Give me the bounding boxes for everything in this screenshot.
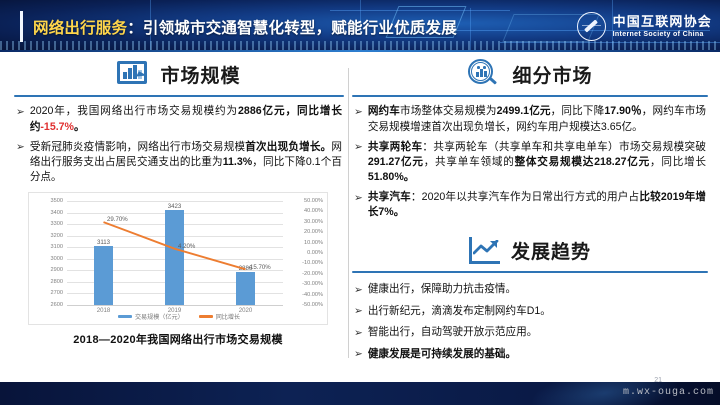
y-tick-right: 30.00% — [289, 219, 323, 225]
y-tick-left: 3000 — [29, 256, 63, 262]
org-logo: 中国互联网协会 Internet Society of China — [577, 9, 712, 43]
section-title-trend: 发展趋势 — [511, 237, 591, 264]
y-tick-left: 2600 — [29, 302, 63, 308]
bullet-arrow-icon: ➢ — [354, 104, 363, 119]
section-title-segment: 细分市场 — [512, 61, 592, 88]
bullet-arrow-icon: ➢ — [354, 140, 363, 155]
org-name-cn: 中国互联网协会 — [613, 15, 712, 28]
y-tick-right: -40.00% — [289, 292, 323, 298]
y-tick-right: 40.00% — [289, 208, 323, 214]
y-tick-left: 3300 — [29, 221, 63, 227]
y-tick-right: -30.00% — [289, 281, 323, 287]
slide-header: 网络出行服务 ：引领城市交通智慧化转型，赋能行业优质发展 中国互联网协会 Int… — [0, 0, 720, 52]
line-label-2018: 29.70% — [107, 216, 128, 223]
slide: 网络出行服务 ：引领城市交通智慧化转型，赋能行业优质发展 中国互联网协会 Int… — [0, 0, 720, 405]
line-label-2020: -15.70% — [248, 264, 271, 271]
bullet-arrow-icon: ➢ — [354, 325, 363, 340]
bullet-item: ➢ 健康出行，保障助力抗击疫情。 — [354, 282, 706, 297]
bullet-arrow-icon: ➢ — [16, 104, 25, 119]
line-label-2019: 4.20% — [178, 243, 195, 250]
monitor-bar-chart-cursor-icon — [117, 61, 151, 88]
slide-body: 市场规模 ➢ 2020年，我国网络出行市场交易规模约为2886亿元，同比增长约-… — [0, 52, 720, 382]
legend-label: 同比增长 — [216, 312, 240, 321]
section-title-market: 市场规模 — [160, 61, 240, 88]
bullet-text: 智能出行，自动驾驶开放示范应用。 — [368, 325, 538, 340]
bullet-text: 共享汽车：2020年以共享汽车作为日常出行方式的用户占比较2019年增长7%。 — [368, 190, 706, 220]
org-logo-text: 中国互联网协会 Internet Society of China — [613, 15, 712, 38]
y-tick-right: 0.00% — [289, 250, 323, 256]
bullet-item: ➢ 出行新纪元，滴滴发布定制网约车D1。 — [354, 304, 706, 319]
y-tick-left: 3400 — [29, 210, 63, 216]
org-name-en: Internet Society of China — [613, 31, 712, 38]
legend-item-bar: 交易规模（亿元） — [118, 312, 184, 321]
y-tick-left: 3100 — [29, 244, 63, 250]
bullet-item: ➢ 共享两轮车：共享两轮车（共享单车和共享电单车）市场交易规模突破291.27亿… — [354, 140, 706, 185]
section-header-market: 市场规模 — [14, 54, 344, 94]
bullet-item: ➢ 共享汽车：2020年以共享汽车作为日常出行方式的用户占比较2019年增长7%… — [354, 190, 706, 220]
title-accent-bar — [20, 11, 23, 42]
y-tick-left: 2700 — [29, 290, 63, 296]
page-title-highlight: 网络出行服务 — [33, 16, 127, 38]
bullet-text: 健康出行，保障助力抗击疫情。 — [368, 282, 516, 297]
y-tick-left: 3200 — [29, 233, 63, 239]
slide-footer — [0, 382, 720, 405]
legend-swatch — [118, 315, 132, 318]
section-header-trend: 发展趋势 — [352, 230, 708, 270]
bullet-arrow-icon: ➢ — [354, 282, 363, 297]
page-title: 网络出行服务 ：引领城市交通智慧化转型，赋能行业优质发展 — [33, 12, 457, 41]
y-tick-left: 3500 — [29, 198, 63, 204]
line-chart-up-icon — [469, 237, 502, 264]
y-tick-right: -20.00% — [289, 271, 323, 277]
bullet-text: 健康发展是可持续发展的基础。 — [368, 347, 516, 362]
legend-label: 交易规模（亿元） — [135, 312, 184, 321]
watermark: m.wx-ouga.com — [623, 387, 714, 398]
magnifier-bar-chart-icon — [467, 59, 503, 89]
bullet-item: ➢ 2020年，我国网络出行市场交易规模约为2886亿元，同比增长约-15.7%… — [16, 104, 342, 134]
chart-legend: 交易规模（亿元） 同比增长 — [29, 312, 329, 321]
y-tick-right: -50.00% — [289, 302, 323, 308]
bullet-arrow-icon: ➢ — [354, 304, 363, 319]
y-tick-left: 2800 — [29, 279, 63, 285]
bullet-arrow-icon: ➢ — [16, 140, 25, 155]
bullet-text: 出行新纪元，滴滴发布定制网约车D1。 — [368, 304, 551, 319]
legend-swatch — [199, 315, 213, 318]
column-divider — [348, 68, 349, 358]
bullet-item: ➢ 网约车市场整体交易规模为2499.1亿元，同比下降17.90％，网约车市场交… — [354, 104, 706, 134]
section-header-segment: 细分市场 — [352, 54, 708, 94]
y-tick-right: 20.00% — [289, 229, 323, 235]
y-tick-right: 50.00% — [289, 198, 323, 204]
growth-line-series — [67, 201, 283, 305]
globe-icon — [577, 12, 606, 41]
bullet-text: 网约车市场整体交易规模为2499.1亿元，同比下降17.90％，网约车市场交易规… — [368, 104, 706, 134]
column-right: 细分市场 ➢ 网约车市场整体交易规模为2499.1亿元，同比下降17.90％，网… — [352, 54, 708, 362]
bullet-text: 受新冠肺炎疫情影响，网络出行市场交易规模首次出现负增长。网络出行服务支出占居民交… — [30, 140, 342, 185]
page-title-rest: ：引领城市交通智慧化转型，赋能行业优质发展 — [127, 16, 457, 38]
bullet-arrow-icon: ➢ — [354, 190, 363, 205]
chart-plot-area: 3500 3400 3300 3200 3100 3000 2900 2800 … — [67, 201, 283, 305]
chart-caption: 2018—2020年我国网络出行市场交易规模 — [28, 331, 328, 347]
column-left: 市场规模 ➢ 2020年，我国网络出行市场交易规模约为2886亿元，同比增长约-… — [14, 54, 344, 347]
y-tick-right: 10.00% — [289, 240, 323, 246]
bullet-text: 共享两轮车：共享两轮车（共享单车和共享电单车）市场交易规模突破291.27亿元，… — [368, 140, 706, 185]
bullet-item: ➢ 智能出行，自动驾驶开放示范应用。 — [354, 325, 706, 340]
y-tick-right: -10.00% — [289, 260, 323, 266]
market-size-chart: 3500 3400 3300 3200 3100 3000 2900 2800 … — [28, 192, 328, 325]
legend-item-line: 同比增长 — [199, 312, 240, 321]
bullet-arrow-icon: ➢ — [354, 347, 363, 362]
bullet-item: ➢ 健康发展是可持续发展的基础。 — [354, 347, 706, 362]
bullet-item: ➢ 受新冠肺炎疫情影响，网络出行市场交易规模首次出现负增长。网络出行服务支出占居… — [16, 140, 342, 185]
bullet-text: 2020年，我国网络出行市场交易规模约为2886亿元，同比增长约-15.7%。 — [30, 104, 342, 134]
y-tick-left: 2900 — [29, 267, 63, 273]
